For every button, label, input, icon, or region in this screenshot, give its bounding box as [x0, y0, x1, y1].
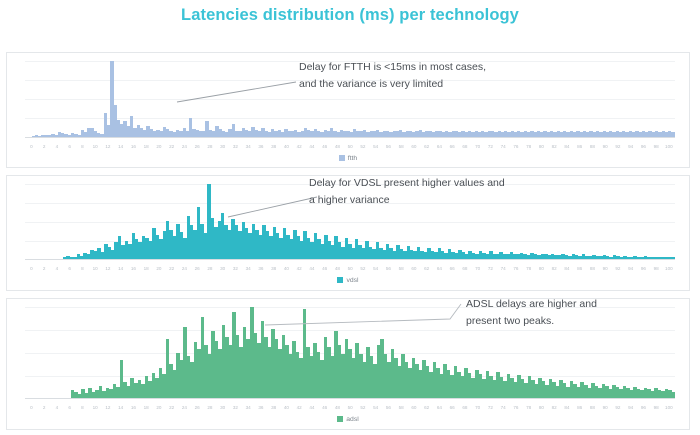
- x-axis-tick: 2: [38, 141, 51, 152]
- page-title: Latencies distribution (ms) per technolo…: [0, 6, 700, 25]
- legend-swatch-adsl: [337, 416, 343, 422]
- x-axis-tick: 44: [306, 141, 319, 152]
- x-axis-tick: 54: [369, 402, 382, 413]
- annotation-vdsl-line2: a higher variance: [309, 192, 505, 209]
- x-axis-tick: 50: [344, 263, 357, 274]
- x-axis-tick: 34: [242, 263, 255, 274]
- x-axis-tick: 40: [280, 402, 293, 413]
- x-axis-tick: 90: [599, 141, 612, 152]
- x-axis-tick: 64: [433, 263, 446, 274]
- x-axis-tick: 36: [255, 263, 268, 274]
- x-axis-tick: 64: [433, 141, 446, 152]
- x-axis-tick: 50: [344, 402, 357, 413]
- x-axis-tick: 46: [318, 402, 331, 413]
- x-axis-tick: 24: [178, 141, 191, 152]
- chart-panel-vdsl: 0246810121416182022242628303234363840424…: [6, 175, 690, 291]
- x-axis-tick: 52: [357, 402, 370, 413]
- x-axis-tick: 78: [522, 402, 535, 413]
- annotation-ftth-line2: and the variance is very limited: [299, 76, 486, 93]
- legend-swatch-vdsl: [337, 277, 343, 283]
- legend-label-adsl: adsl: [346, 416, 358, 423]
- x-axis-tick: 86: [573, 263, 586, 274]
- x-axis-tick: 60: [408, 263, 421, 274]
- x-axis-tick: 90: [599, 402, 612, 413]
- x-axis-tick: 46: [318, 141, 331, 152]
- chart-panel-adsl: 0246810121416182022242628303234363840424…: [6, 298, 690, 430]
- legend-adsl[interactable]: adsl: [7, 416, 689, 423]
- x-axis-tick: 42: [293, 402, 306, 413]
- axis-baseline: [25, 137, 675, 138]
- x-axis-tick: 96: [637, 141, 650, 152]
- x-axis-tick: 42: [293, 141, 306, 152]
- x-axis-tick: 76: [510, 263, 523, 274]
- legend-swatch-ftth: [339, 155, 345, 161]
- x-axis-tick: 0: [25, 141, 38, 152]
- x-axis-tick: 52: [357, 141, 370, 152]
- x-axis-tick: 14: [114, 141, 127, 152]
- axis-baseline: [25, 259, 675, 260]
- x-axis-tick: 32: [229, 402, 242, 413]
- x-axis-tick: 86: [573, 402, 586, 413]
- x-axis-tick: 60: [408, 141, 421, 152]
- x-axis-tick: 76: [510, 141, 523, 152]
- x-axis-tick: 8: [76, 402, 89, 413]
- annotation-adsl-line1: ADSL delays are higher and: [466, 296, 597, 313]
- x-axis-tick: 26: [191, 263, 204, 274]
- annotation-adsl: ADSL delays are higher and present two p…: [466, 296, 597, 330]
- x-axis-tick: 54: [369, 141, 382, 152]
- x-axis-tick: 68: [459, 402, 472, 413]
- x-axis-tick: 62: [420, 141, 433, 152]
- x-axis-tick: 76: [510, 402, 523, 413]
- x-axis-tick: 26: [191, 141, 204, 152]
- x-axis-tick: 6: [63, 141, 76, 152]
- legend-vdsl[interactable]: vdsl: [7, 277, 689, 284]
- annotation-leader-line-adsl: [265, 303, 465, 333]
- x-axis-tick: 72: [484, 263, 497, 274]
- x-axis-tick: 82: [548, 402, 561, 413]
- x-axis-tick: 74: [497, 402, 510, 413]
- annotation-ftth: Delay for FTTH is <15ms in most cases, a…: [299, 59, 486, 93]
- x-axis-tick: 24: [178, 263, 191, 274]
- x-axis-tick: 30: [216, 402, 229, 413]
- x-axis-tick: 22: [165, 141, 178, 152]
- x-axis-tick: 18: [140, 402, 153, 413]
- x-axis-tick: 20: [153, 402, 166, 413]
- x-axis-tick: 70: [471, 263, 484, 274]
- x-axis-tick: 36: [255, 402, 268, 413]
- x-axis-tick: 62: [420, 402, 433, 413]
- x-axis-tick: 58: [395, 141, 408, 152]
- x-axis-tick: 8: [76, 141, 89, 152]
- x-axis-tick: 50: [344, 141, 357, 152]
- x-axis-tick: 2: [38, 402, 51, 413]
- x-axis-tick: 80: [535, 141, 548, 152]
- x-axis-tick: 20: [153, 141, 166, 152]
- x-axis-tick: 66: [446, 141, 459, 152]
- x-axis-tick: 46: [318, 263, 331, 274]
- x-axis-tick: 8: [76, 263, 89, 274]
- x-axis-tick: 56: [382, 141, 395, 152]
- x-axis-vdsl: 0246810121416182022242628303234363840424…: [25, 263, 675, 274]
- x-axis-tick: 22: [165, 263, 178, 274]
- x-axis-tick: 94: [624, 141, 637, 152]
- x-axis-tick: 80: [535, 263, 548, 274]
- x-axis-tick: 88: [586, 402, 599, 413]
- x-axis-tick: 34: [242, 402, 255, 413]
- x-axis-tick: 0: [25, 402, 38, 413]
- x-axis-tick: 28: [204, 141, 217, 152]
- x-axis-tick: 84: [561, 402, 574, 413]
- x-axis-tick: 44: [306, 402, 319, 413]
- x-axis-tick: 24: [178, 402, 191, 413]
- x-axis-tick: 28: [204, 402, 217, 413]
- annotation-adsl-line2: present two peaks.: [466, 313, 597, 330]
- x-axis-tick: 68: [459, 141, 472, 152]
- x-axis-tick: 4: [51, 402, 64, 413]
- x-axis-tick: 18: [140, 141, 153, 152]
- x-axis-tick: 6: [63, 263, 76, 274]
- x-axis-tick: 10: [89, 402, 102, 413]
- x-axis-tick: 58: [395, 263, 408, 274]
- x-axis-tick: 88: [586, 263, 599, 274]
- x-axis-tick: 34: [242, 141, 255, 152]
- x-axis-tick: 52: [357, 263, 370, 274]
- x-axis-tick: 14: [114, 402, 127, 413]
- x-axis-tick: 16: [127, 141, 140, 152]
- x-axis-tick: 48: [331, 263, 344, 274]
- x-axis-tick: 94: [624, 402, 637, 413]
- x-axis-tick: 0: [25, 263, 38, 274]
- x-axis-tick: 100: [663, 141, 676, 152]
- x-axis-tick: 98: [650, 402, 663, 413]
- annotation-ftth-line1: Delay for FTTH is <15ms in most cases,: [299, 59, 486, 76]
- x-axis-tick: 48: [331, 141, 344, 152]
- x-axis-tick: 78: [522, 263, 535, 274]
- x-axis-tick: 82: [548, 263, 561, 274]
- x-axis-tick: 48: [331, 402, 344, 413]
- x-axis-tick: 78: [522, 141, 535, 152]
- x-axis-tick: 68: [459, 263, 472, 274]
- x-axis-tick: 70: [471, 141, 484, 152]
- x-axis-tick: 38: [267, 263, 280, 274]
- x-axis-tick: 62: [420, 263, 433, 274]
- x-axis-tick: 42: [293, 263, 306, 274]
- legend-ftth[interactable]: ftth: [7, 155, 689, 162]
- x-axis-tick: 36: [255, 141, 268, 152]
- x-axis-tick: 96: [637, 263, 650, 274]
- x-axis-tick: 44: [306, 263, 319, 274]
- x-axis-tick: 100: [663, 263, 676, 274]
- x-axis-tick: 54: [369, 263, 382, 274]
- x-axis-tick: 72: [484, 402, 497, 413]
- x-axis-adsl: 0246810121416182022242628303234363840424…: [25, 402, 675, 413]
- x-axis-tick: 16: [127, 402, 140, 413]
- x-axis-tick: 22: [165, 402, 178, 413]
- x-axis-tick: 84: [561, 141, 574, 152]
- annotation-vdsl: Delay for VDSL present higher values and…: [309, 175, 505, 209]
- legend-label-ftth: ftth: [348, 155, 357, 162]
- x-axis-tick: 94: [624, 263, 637, 274]
- x-axis-tick: 100: [663, 402, 676, 413]
- x-axis-tick: 18: [140, 263, 153, 274]
- x-axis-tick: 96: [637, 402, 650, 413]
- x-axis-tick: 10: [89, 141, 102, 152]
- x-axis-tick: 30: [216, 141, 229, 152]
- x-axis-tick: 30: [216, 263, 229, 274]
- x-axis-tick: 60: [408, 402, 421, 413]
- x-axis-tick: 4: [51, 263, 64, 274]
- x-axis-tick: 10: [89, 263, 102, 274]
- x-axis-tick: 74: [497, 263, 510, 274]
- x-axis-tick: 86: [573, 141, 586, 152]
- x-axis-tick: 72: [484, 141, 497, 152]
- x-axis-tick: 92: [612, 141, 625, 152]
- x-axis-tick: 12: [102, 141, 115, 152]
- x-axis-tick: 74: [497, 141, 510, 152]
- x-axis-tick: 26: [191, 402, 204, 413]
- annotation-leader-line-ftth: [177, 81, 297, 103]
- x-axis-tick: 84: [561, 263, 574, 274]
- x-axis-tick: 92: [612, 263, 625, 274]
- x-axis-tick: 92: [612, 402, 625, 413]
- x-axis-tick: 40: [280, 141, 293, 152]
- x-axis-tick: 80: [535, 402, 548, 413]
- x-axis-tick: 16: [127, 263, 140, 274]
- x-axis-tick: 2: [38, 263, 51, 274]
- x-axis-tick: 28: [204, 263, 217, 274]
- x-axis-tick: 4: [51, 141, 64, 152]
- x-axis-tick: 70: [471, 402, 484, 413]
- annotation-leader-line-vdsl: [228, 196, 318, 218]
- x-axis-tick: 38: [267, 402, 280, 413]
- x-axis-tick: 56: [382, 402, 395, 413]
- x-axis-tick: 66: [446, 402, 459, 413]
- x-axis-tick: 90: [599, 263, 612, 274]
- x-axis-tick: 98: [650, 141, 663, 152]
- x-axis-tick: 14: [114, 263, 127, 274]
- x-axis-tick: 32: [229, 141, 242, 152]
- x-axis-tick: 56: [382, 263, 395, 274]
- x-axis-tick: 88: [586, 141, 599, 152]
- axis-baseline: [25, 398, 675, 399]
- x-axis-tick: 40: [280, 263, 293, 274]
- x-axis-tick: 58: [395, 402, 408, 413]
- legend-label-vdsl: vdsl: [346, 277, 358, 284]
- x-axis-tick: 20: [153, 263, 166, 274]
- x-axis-tick: 66: [446, 263, 459, 274]
- x-axis-tick: 64: [433, 402, 446, 413]
- x-axis-tick: 6: [63, 402, 76, 413]
- x-axis-tick: 32: [229, 263, 242, 274]
- x-axis-tick: 12: [102, 402, 115, 413]
- x-axis-tick: 82: [548, 141, 561, 152]
- chart-panel-ftth: 0246810121416182022242628303234363840424…: [6, 52, 690, 168]
- x-axis-tick: 38: [267, 141, 280, 152]
- x-axis-tick: 12: [102, 263, 115, 274]
- x-axis-tick: 98: [650, 263, 663, 274]
- x-axis-ftth: 0246810121416182022242628303234363840424…: [25, 141, 675, 152]
- annotation-vdsl-line1: Delay for VDSL present higher values and: [309, 175, 505, 192]
